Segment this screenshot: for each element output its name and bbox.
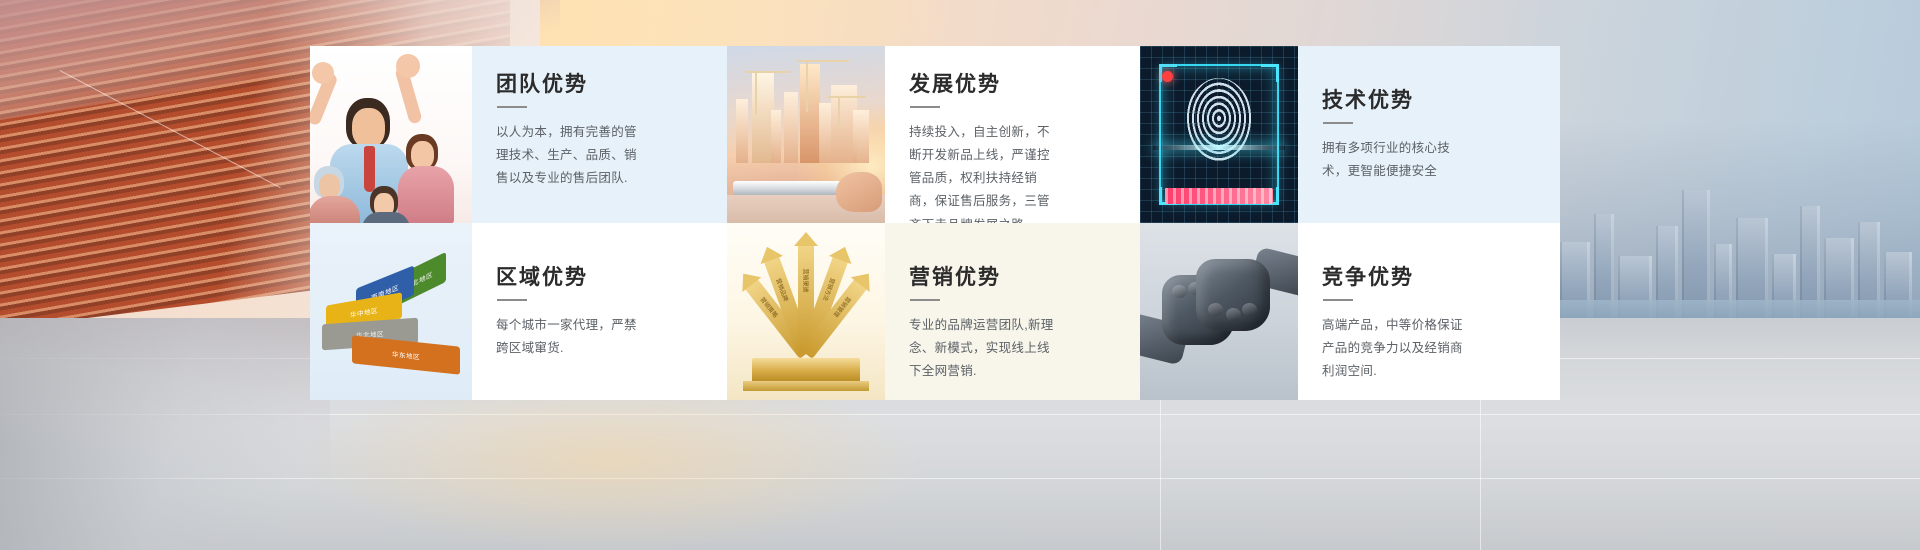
card-description: 专业的品牌运营团队,新理念、新模式，实现线上线下全网营销. bbox=[909, 314, 1059, 383]
card-region-text: 区域优势 每个城市一家代理，严禁跨区域窜货. bbox=[472, 223, 727, 400]
card-title: 竞争优势 bbox=[1322, 265, 1534, 288]
title-rule bbox=[497, 106, 527, 108]
cheering-team-photo bbox=[310, 46, 472, 223]
card-description: 每个城市一家代理，严禁跨区域窜货. bbox=[496, 314, 646, 360]
fingerprint-scanner-graphic bbox=[1140, 46, 1298, 223]
card-competition-image bbox=[1140, 223, 1298, 400]
pedestal bbox=[752, 358, 860, 382]
city-on-tablet-photo bbox=[727, 46, 885, 223]
title-rule bbox=[1323, 122, 1353, 124]
card-description: 以人为本，拥有完善的管理技术、生产、品质、销售以及专业的售后团队. bbox=[496, 121, 646, 190]
pie-slice: 华东地区 bbox=[352, 335, 460, 374]
card-title: 团队优势 bbox=[496, 72, 701, 95]
floor-step bbox=[0, 318, 330, 550]
golden-arrows-graphic: 营销策略 营销品牌 营销渠道 营销方法 营销管理 bbox=[727, 223, 885, 400]
advantages-grid: 团队优势 以人为本，拥有完善的管理技术、生产、品质、销售以及专业的售后团队. bbox=[310, 46, 1560, 400]
pedestal-base bbox=[743, 381, 869, 391]
card-team-text: 团队优势 以人为本，拥有完善的管理技术、生产、品质、销售以及专业的售后团队. bbox=[472, 46, 727, 223]
card-marketing-text: 营销优势 专业的品牌运营团队,新理念、新模式，实现线上线下全网营销. bbox=[885, 223, 1140, 400]
title-rule bbox=[1323, 299, 1353, 301]
card-competition-text: 竞争优势 高端产品，中等价格保证产品的竞争力以及经销商利润空间. bbox=[1298, 223, 1560, 400]
card-title: 区域优势 bbox=[496, 265, 701, 288]
card-description: 持续投入，自主创新，不断开发新品上线，严谨控管品质，权利扶持经销商，保证售后服务… bbox=[909, 121, 1059, 223]
title-rule bbox=[910, 299, 940, 301]
card-description: 拥有多项行业的核心技术，更智能便捷安全 bbox=[1322, 137, 1472, 183]
card-development-image bbox=[727, 46, 885, 223]
card-title: 技术优势 bbox=[1322, 88, 1534, 111]
pie-slice-label: 华中地区 bbox=[350, 305, 378, 320]
title-rule bbox=[910, 106, 940, 108]
card-description: 高端产品，中等价格保证产品的竞争力以及经销商利润空间. bbox=[1322, 314, 1472, 383]
clasped-fists-photo bbox=[1140, 223, 1298, 400]
floor-glow bbox=[300, 400, 920, 550]
pie-slice-label: 华东地区 bbox=[392, 349, 420, 362]
card-title: 发展优势 bbox=[909, 72, 1114, 95]
card-development-text: 发展优势 持续投入，自主创新，不断开发新品上线，严谨控管品质，权利扶持经销商，保… bbox=[885, 46, 1140, 223]
card-title: 营销优势 bbox=[909, 265, 1114, 288]
regional-pie-chart: 东北地区 西南地区 华中地区 华北地区 华东地区 bbox=[310, 223, 472, 400]
holding-hand bbox=[836, 172, 882, 212]
card-region-image: 东北地区 西南地区 华中地区 华北地区 华东地区 bbox=[310, 223, 472, 400]
card-marketing-image: 营销策略 营销品牌 营销渠道 营销方法 营销管理 bbox=[727, 223, 885, 400]
scan-line bbox=[1153, 145, 1286, 150]
status-indicator-light bbox=[1162, 71, 1173, 82]
title-rule bbox=[497, 299, 527, 301]
progress-bar bbox=[1165, 188, 1272, 204]
card-technology-text: 技术优势 拥有多项行业的核心技术，更智能便捷安全 bbox=[1298, 46, 1560, 223]
card-technology-image bbox=[1140, 46, 1298, 223]
card-team-image bbox=[310, 46, 472, 223]
